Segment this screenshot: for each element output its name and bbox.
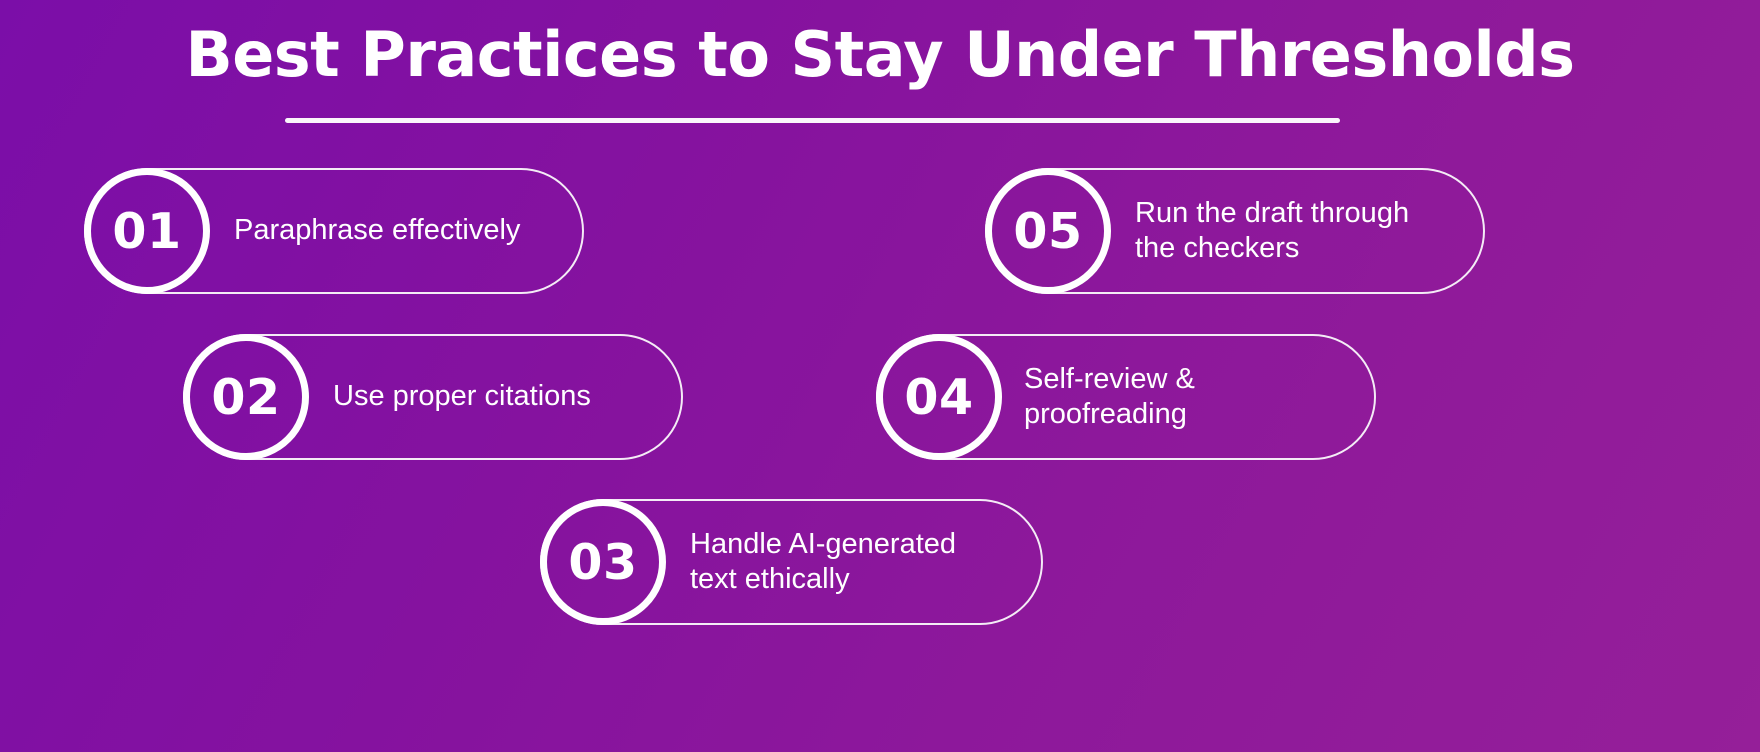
badge-number: 01 [112, 207, 181, 256]
list-item-03: 03 Handle AI-generated text ethically [540, 499, 1043, 625]
infographic-root: Best Practices to Stay Under Thresholds … [0, 0, 1760, 752]
page-title: Best Practices to Stay Under Thresholds [0, 22, 1760, 87]
number-badge-02: 02 [183, 334, 309, 460]
number-badge-04: 04 [876, 334, 1002, 460]
number-badge-03: 03 [540, 499, 666, 625]
number-badge-05: 05 [985, 168, 1111, 294]
list-item-04: 04 Self-review & proofreading [876, 334, 1376, 460]
badge-number: 03 [568, 538, 637, 587]
title-block: Best Practices to Stay Under Thresholds [0, 22, 1760, 87]
list-item-label: Paraphrase effectively [234, 213, 520, 248]
badge-number: 04 [904, 373, 973, 422]
list-item-05: 05 Run the draft through the checkers [985, 168, 1485, 294]
list-item-label: Self-review & proofreading [1024, 362, 1195, 433]
number-badge-01: 01 [84, 168, 210, 294]
list-item-01: 01 Paraphrase effectively [84, 168, 584, 294]
list-item-02: 02 Use proper citations [183, 334, 683, 460]
title-underline [285, 118, 1340, 123]
badge-number: 02 [211, 373, 280, 422]
list-item-label: Handle AI-generated text ethically [690, 527, 956, 598]
badge-number: 05 [1013, 207, 1082, 256]
list-item-label: Use proper citations [333, 379, 591, 414]
list-item-label: Run the draft through the checkers [1135, 196, 1409, 267]
